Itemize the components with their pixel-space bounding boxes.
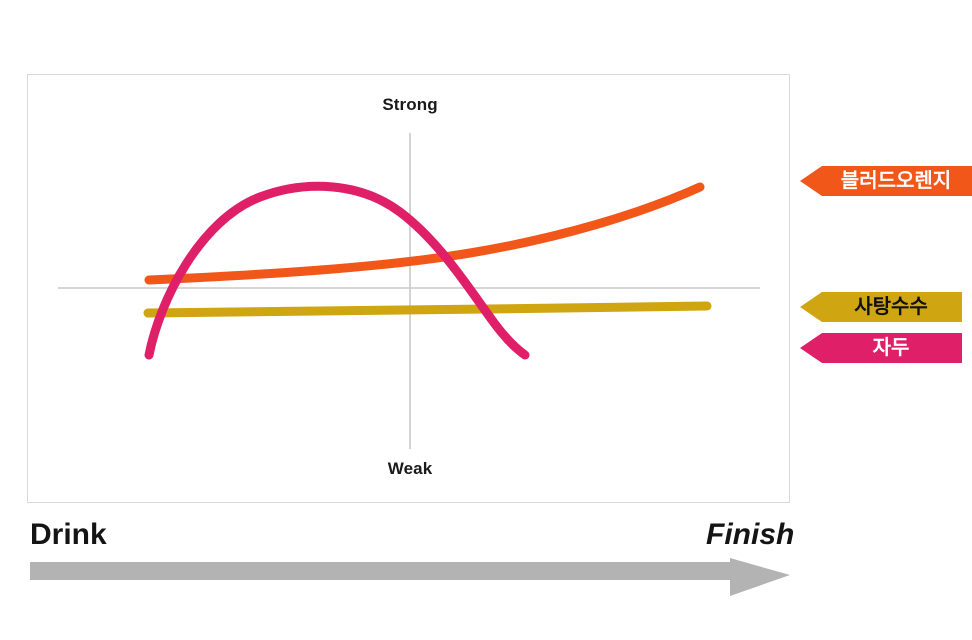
legend-item-plum[interactable]: 자두: [800, 333, 962, 363]
legend-item-sugarcane[interactable]: 사탕수수: [800, 292, 962, 322]
timeline-label-drink: Drink: [30, 518, 107, 552]
legend-item-blood-orange[interactable]: 블러드오렌지: [800, 166, 972, 196]
timeline-label-finish: Finish: [706, 518, 794, 552]
timeline-arrow-icon: [30, 558, 790, 596]
axis-label-weak: Weak: [388, 459, 433, 479]
legend-item-label: 블러드오렌지: [841, 171, 951, 191]
chart-plot-frame: [27, 74, 790, 503]
legend-item-label: 자두: [873, 338, 910, 358]
legend-item-label: 사탕수수: [854, 297, 928, 317]
chart-canvas: Strong Weak Drink Finish 블러드오렌지 사탕수수 자두: [0, 0, 972, 640]
axis-label-strong: Strong: [382, 95, 437, 115]
